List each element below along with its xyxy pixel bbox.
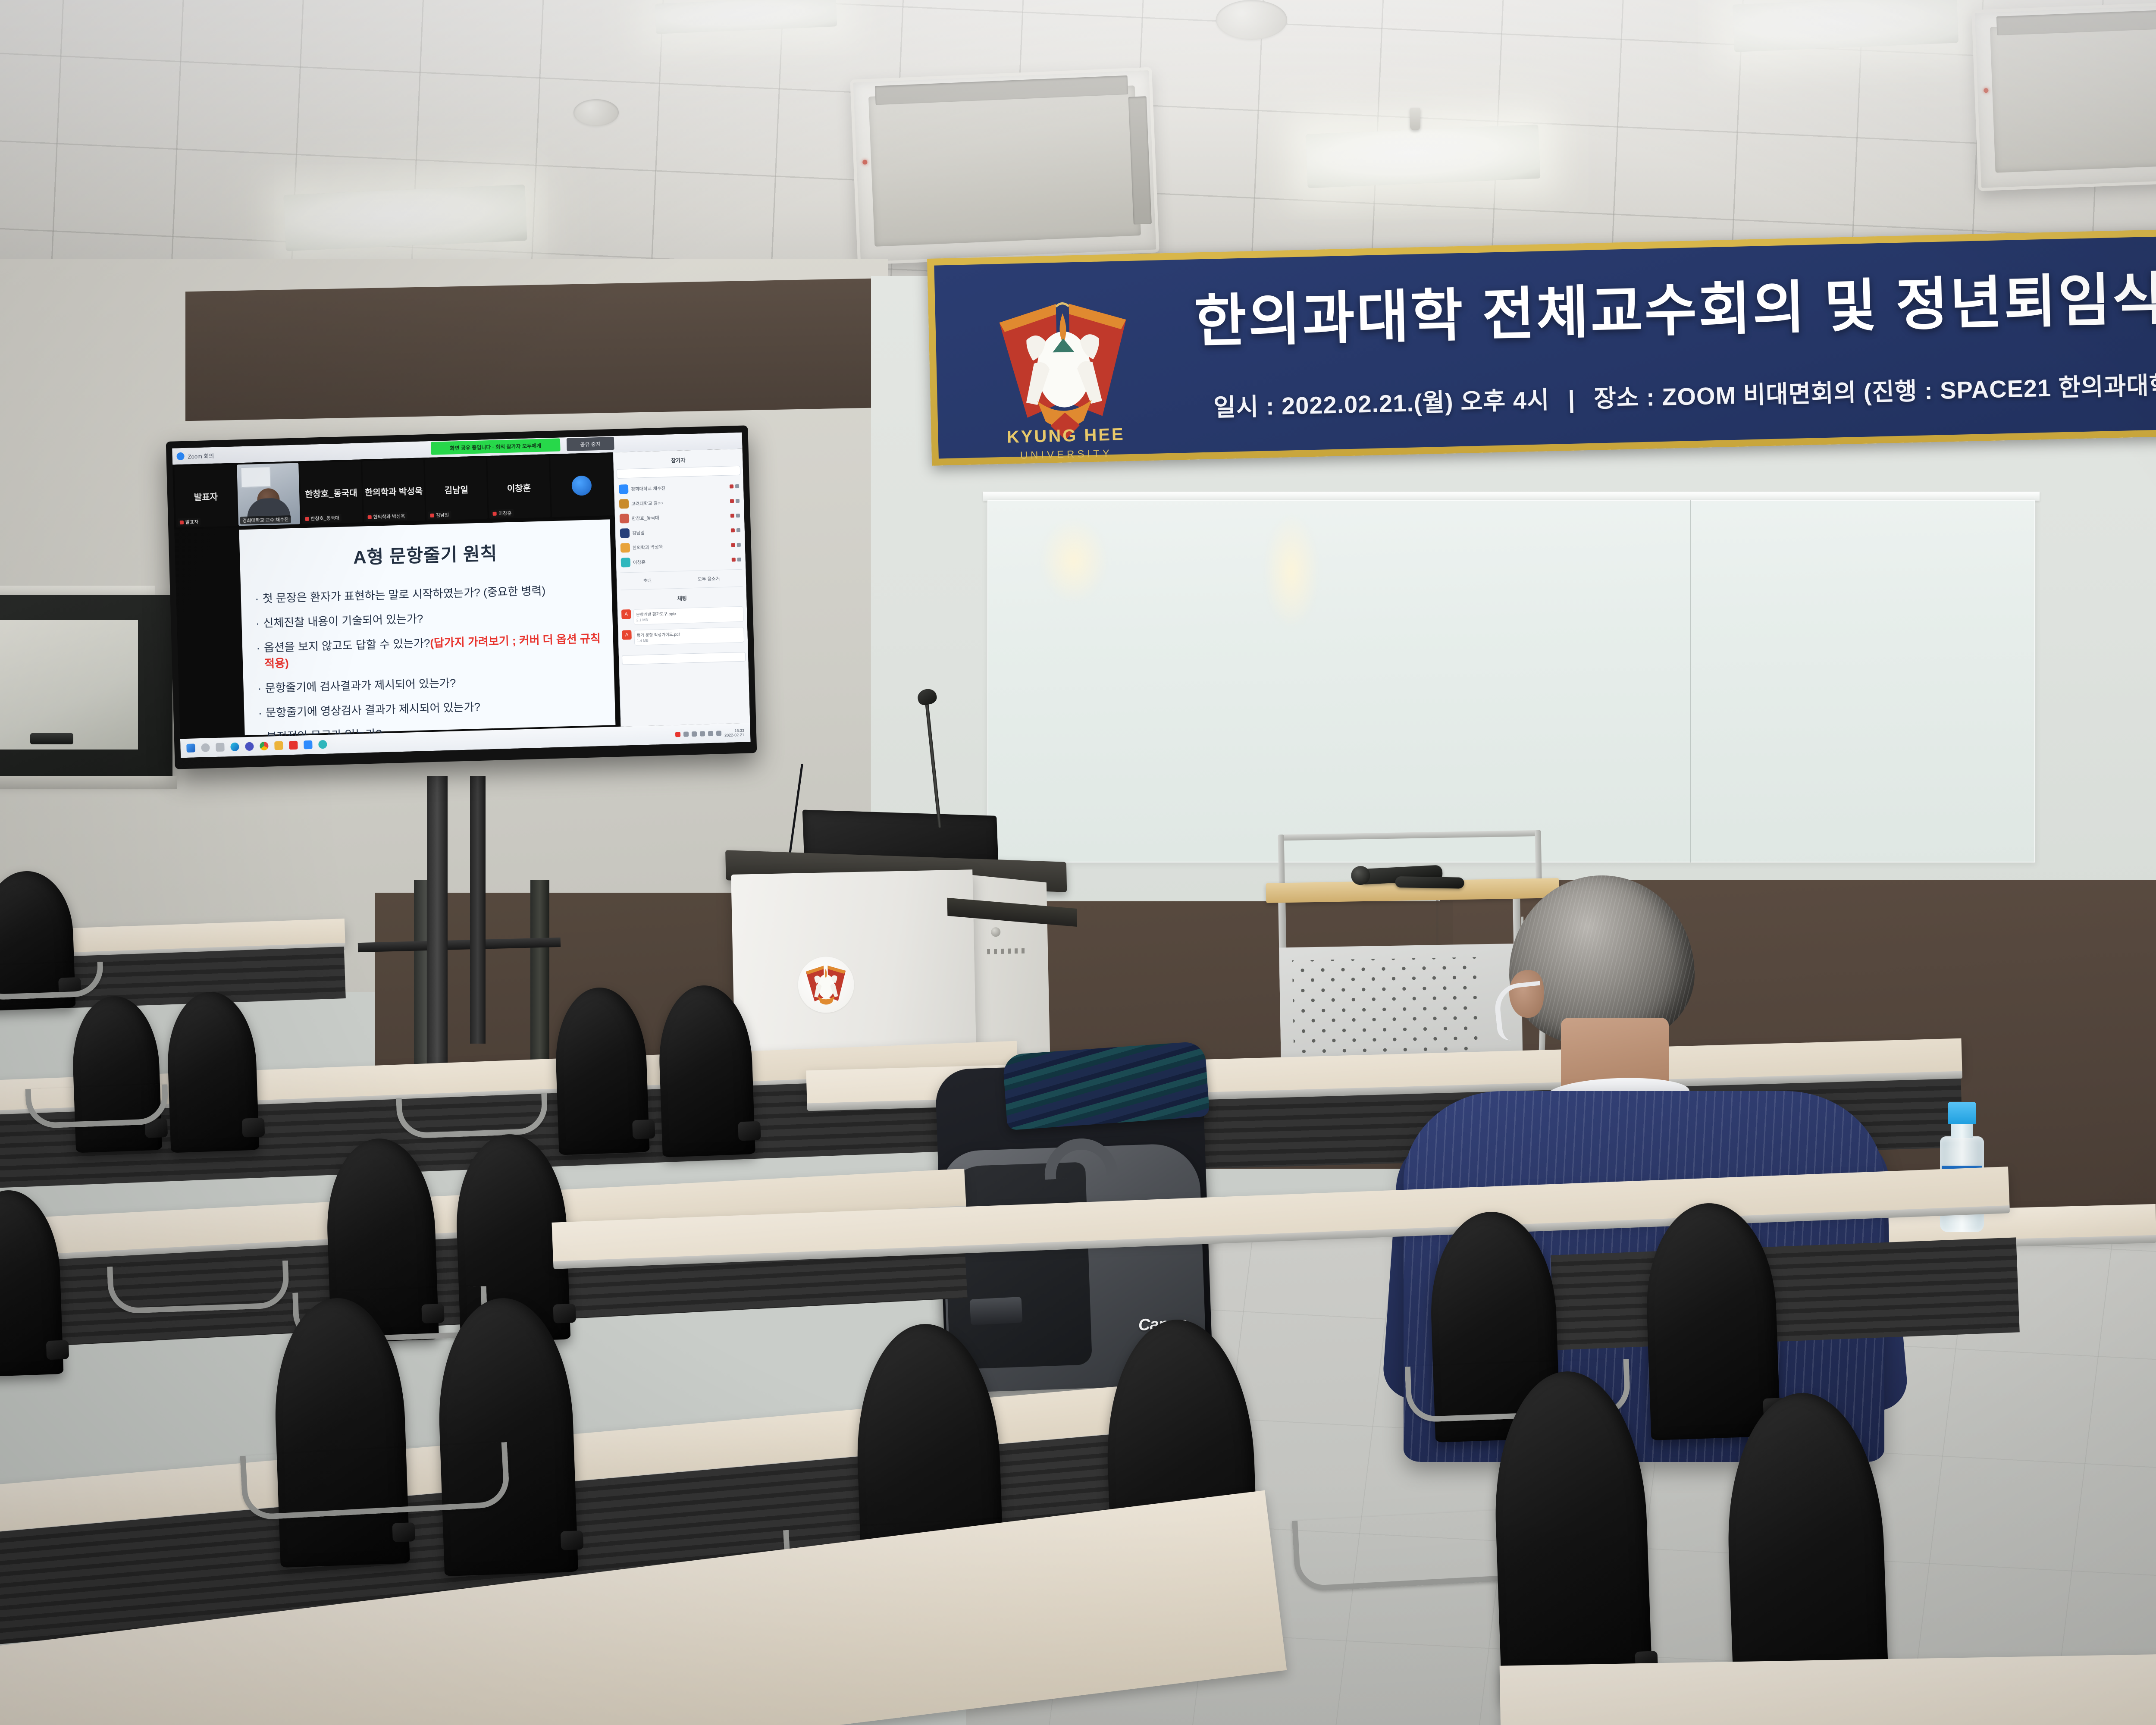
- backpack-buckle: [970, 1297, 1023, 1325]
- participant-status-icons: [731, 528, 740, 532]
- participant-name-chip: 한창호_동국대: [303, 514, 342, 523]
- tv-stand-pole: [470, 776, 486, 1044]
- podium-crest: [797, 956, 855, 1013]
- acrobat-icon[interactable]: [289, 741, 298, 750]
- tray-icon[interactable]: [692, 731, 697, 737]
- slide-bullet: 문항줄기에 영상검사 결과가 제시되어 있는가?: [256, 695, 603, 721]
- participant-status-icons: [730, 484, 739, 488]
- participant-tile[interactable]: 한창호_동국대 한창호_동국대: [300, 461, 363, 524]
- participant-center-label: 한의학과 박성욱: [364, 484, 423, 498]
- zoom-app-icon[interactable]: [304, 740, 313, 750]
- chat-file-title: 문항개발 평가도구.pptx: [636, 612, 676, 618]
- chair[interactable]: [166, 991, 260, 1153]
- chair-armrest: [25, 1084, 169, 1129]
- tv-stand-pole: [427, 776, 448, 1078]
- participant-center-label: 한창호_동국대: [305, 486, 357, 499]
- presentation-display: Zoom 회의 화면 공유 중입니다 · 회의 참가자 모두에게 공유 중지 발…: [166, 425, 757, 769]
- chair[interactable]: [1491, 1369, 1653, 1702]
- mute-all-button[interactable]: 모두 음소거: [698, 575, 720, 582]
- mic-off-icon: [367, 515, 371, 519]
- mic-off-icon: [180, 520, 184, 524]
- window-handle[interactable]: [30, 733, 73, 744]
- whiteboard-in-video: [241, 466, 271, 488]
- slide-bullet: 옵션을 보지 않고도 답할 수 있는가?(답가지 가려보기 ; 커버 더 옵션 …: [254, 630, 602, 672]
- mic-off-icon: [305, 517, 309, 521]
- kyung-hee-crest-icon: [803, 960, 849, 1010]
- volume-icon[interactable]: [716, 731, 721, 736]
- zoom-logo-icon: [176, 452, 184, 460]
- participant-name: 김남일: [632, 527, 728, 536]
- chat-message: A 문항개발 평가도구.pptx 2.1 MB: [620, 604, 745, 628]
- avatar: [620, 543, 630, 553]
- whiteboard-panel: [987, 500, 2035, 862]
- participant-name-chip: 김남일: [428, 511, 451, 519]
- system-tray: 16:33 2022-02-21: [675, 728, 745, 739]
- chat-bubble[interactable]: 문항개발 평가도구.pptx 2.1 MB: [633, 606, 744, 625]
- event-banner: KYUNG HEE UNIVERSITY 한의과대학 전체교수회의 및 정년퇴임…: [927, 220, 2156, 466]
- chat-file-title: 평가 문항 작성가이드.pdf: [636, 632, 680, 638]
- participant-tile-camera[interactable]: 경희대학교 교수 채수진: [237, 463, 300, 526]
- search-icon[interactable]: [201, 743, 210, 752]
- whiteboard-top-trim: [983, 492, 2040, 501]
- tray-icon[interactable]: [683, 731, 689, 737]
- chair[interactable]: [71, 995, 162, 1153]
- task-view-icon[interactable]: [216, 743, 225, 752]
- participant-name: 이창훈: [633, 556, 729, 565]
- face-mask: [1493, 981, 1546, 1042]
- slide-bullet: 신체진찰 내용이 기술되어 있는가?: [254, 606, 601, 631]
- avatar: [620, 528, 630, 538]
- stop-share-button[interactable]: 공유 중지: [567, 437, 614, 451]
- avatar: [620, 514, 630, 524]
- window-sill: [0, 776, 177, 789]
- participant-filmstrip: 발표자 발표자 경희대학교 교수 채수진: [172, 452, 615, 529]
- zoom-window-title: Zoom 회의: [188, 451, 214, 460]
- chair-armrest: [396, 1093, 548, 1139]
- windows-start-icon[interactable]: [186, 743, 195, 753]
- participant-status-icons: [730, 513, 740, 517]
- scarf: [1002, 1041, 1210, 1130]
- participant-name-chip: 한의학과 박성욱: [365, 512, 407, 521]
- chair[interactable]: [553, 986, 649, 1155]
- banner-separator: |: [1556, 385, 1587, 414]
- participant-tile-avatar[interactable]: [550, 454, 613, 517]
- participants-panel: 참가자 경희대학교 채수진 고려대학교 김○○ 한창호_동국대: [613, 449, 750, 727]
- participant-status-icons: [732, 557, 741, 561]
- crest-name: KYUNG HEE: [979, 424, 1152, 448]
- control-room-window: [0, 595, 172, 781]
- slide-bullet-list: 첫 문장은 환자가 표현하는 말로 시작하였는가? (중요한 병력) 신체진찰 …: [253, 581, 604, 746]
- edge-icon[interactable]: [230, 743, 239, 752]
- zoom-meeting-body: 발표자 발표자 경희대학교 교수 채수진: [172, 449, 750, 739]
- kyung-hee-crest-icon: [991, 286, 1137, 445]
- chair-armrest: [107, 1261, 290, 1314]
- participant-status-icons: [730, 499, 740, 503]
- participant-status-icons: [731, 543, 741, 547]
- banner-title: 한의과대학 전체교수회의 및 정년퇴임식: [1193, 243, 2156, 358]
- shared-slide: A형 문항줄기 원칙 첫 문장은 환자가 표현하는 말로 시작하였는가? (중요…: [239, 519, 615, 735]
- chair[interactable]: [435, 1296, 578, 1576]
- participant-tile[interactable]: 이창훈 이창훈: [487, 456, 550, 519]
- slide-title: A형 문항줄기 원칙: [251, 536, 599, 572]
- chair[interactable]: [271, 1296, 410, 1568]
- chrome-icon[interactable]: [260, 742, 269, 751]
- avatar: [621, 558, 631, 568]
- invite-button[interactable]: 초대: [643, 577, 652, 584]
- chair[interactable]: [657, 984, 755, 1157]
- explorer-icon[interactable]: [274, 741, 283, 750]
- mic-off-icon: [493, 511, 497, 515]
- avatar: [571, 475, 592, 496]
- participant-center-label: 김남일: [444, 483, 468, 496]
- teams-icon[interactable]: [245, 742, 254, 751]
- banner-date: 일시 : 2022.02.21.(월) 오후 4시: [1213, 386, 1550, 421]
- wall-brown-band: [185, 278, 914, 421]
- chair[interactable]: [0, 1189, 63, 1377]
- chat-input[interactable]: [622, 652, 746, 665]
- mic-off-icon: [430, 513, 434, 517]
- slide-bullet: 문항줄기에 검사결과가 제시되어 있는가?: [255, 671, 602, 696]
- participant-center-label: 이창훈: [507, 481, 531, 494]
- bottle-cap: [1948, 1102, 1976, 1124]
- participant-tile[interactable]: 발표자 발표자: [174, 464, 237, 527]
- participant-tile[interactable]: 김남일 김남일: [425, 458, 488, 521]
- seminar-room-photo: KYUNG HEE UNIVERSITY 한의과대학 전체교수회의 및 정년퇴임…: [0, 0, 2156, 1725]
- avatar: [619, 499, 629, 509]
- participant-name: 경희대학교 채수진: [631, 483, 727, 492]
- avatar: [619, 484, 629, 494]
- slide-bullet: 첫 문장은 환자가 표현하는 말로 시작하였는가? (중요한 병력): [253, 581, 600, 607]
- taskbar-clock[interactable]: 16:33 2022-02-21: [724, 728, 745, 737]
- banner-venue: 장소 : ZOOM 비대면회의 (진행 : SPACE21 한의과대학 264호…: [1594, 370, 2156, 412]
- participant-name-chip: 경희대학교 교수 채수진: [240, 515, 291, 524]
- tray-icon[interactable]: [675, 732, 680, 737]
- chat-file-meta: 2.1 MB: [636, 618, 648, 622]
- file-icon: A: [621, 609, 631, 619]
- participant-name: 한창호_동국대: [632, 512, 728, 521]
- chat-message: A 평가 문항 작성가이드.pdf 1.4 MB: [621, 624, 745, 649]
- chat-file-meta: 1.4 MB: [637, 638, 649, 643]
- wifi-icon[interactable]: [708, 731, 713, 736]
- chat-bubble[interactable]: 평가 문항 작성가이드.pdf 1.4 MB: [634, 627, 744, 646]
- desk-modesty-panel: [1551, 1237, 2020, 1350]
- participant-name-chip: 발표자: [178, 518, 201, 526]
- tray-icon[interactable]: [700, 731, 705, 736]
- file-icon: A: [622, 630, 632, 640]
- podium-control-buttons[interactable]: [987, 948, 1026, 954]
- participant-name: 고려대학교 김○○: [631, 498, 727, 507]
- tv-screen: Zoom 회의 화면 공유 중입니다 · 회의 참가자 모두에게 공유 중지 발…: [172, 433, 751, 758]
- powerpoint-icon[interactable]: [318, 740, 327, 749]
- participant-center-label: 발표자: [194, 489, 218, 503]
- participant-name-chip: 이창훈: [491, 509, 514, 517]
- banner-subtitle: 일시 : 2022.02.21.(월) 오후 4시 | 장소 : ZOOM 비대…: [1213, 356, 2156, 423]
- participant-name: 한의학과 박성욱: [633, 542, 729, 551]
- participant-row[interactable]: 이창훈: [619, 552, 743, 570]
- participant-tile[interactable]: 한의학과 박성욱 한의학과 박성욱: [362, 459, 425, 522]
